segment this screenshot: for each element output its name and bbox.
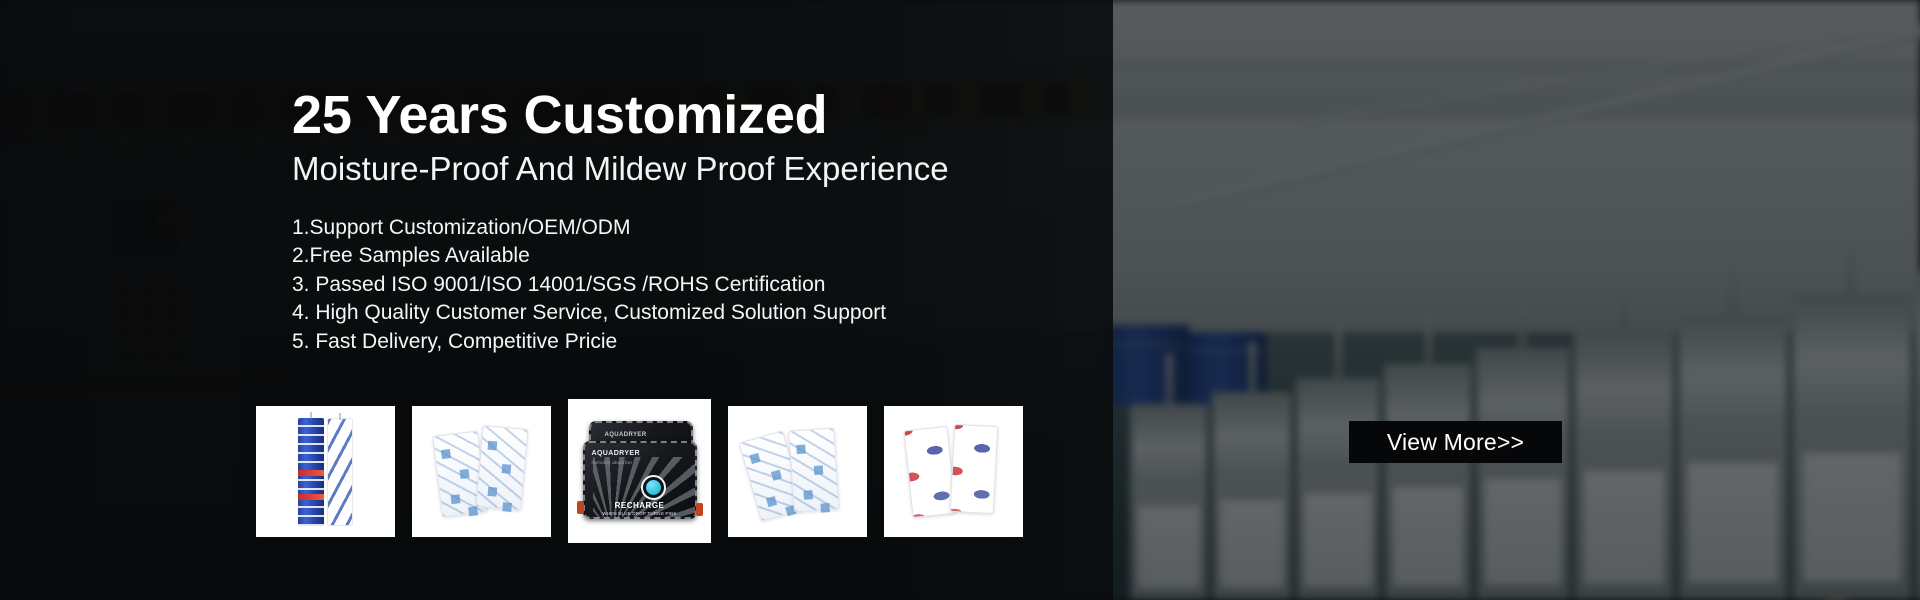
sachet-icon [903,426,956,518]
aquadryer-brand-label-back: AQUADRYER [605,432,647,438]
banner-subheadline: Moisture-Proof And Mildew Proof Experien… [292,150,1052,188]
feature-item: 3. Passed ISO 9001/ISO 14001/SGS /ROHS C… [292,271,1052,300]
feature-list: 1.Support Customization/OEM/ODM 2.Free S… [292,214,1052,357]
blue-tube-artwork [298,415,353,527]
view-more-button[interactable]: View More>> [1349,421,1562,463]
aquadryer-bag-front: AQUADRYER humidity absorber RECHARGE WHE… [583,441,697,519]
oval-logo-sachet-artwork [904,422,1004,520]
product-thumbnail-white-sachet-pair[interactable] [412,406,551,537]
blue-indicator-drop-icon [641,475,666,500]
product-thumbnail-oval-logo-sachet-pair[interactable] [884,406,1023,537]
feature-item: 2.Free Samples Available [292,242,1052,271]
feature-item: 4. High Quality Customer Service, Custom… [292,299,1052,328]
sachet-pair-artwork [429,425,535,517]
feature-item: 5. Fast Delivery, Competitive Pricie [292,328,1052,357]
aquadryer-artwork: AQUADRYER AQUADRYER humidity absorber RE… [579,417,701,525]
banner-headline: 25 Years Customized [292,86,1052,144]
banner-copy: 25 Years Customized Moisture-Proof And M… [292,86,1052,356]
recharge-label: RECHARGE [585,501,695,510]
recharge-sublabel: WHEN BLUE DROP TURNS PINK [585,511,695,516]
printed-strip-icon [327,418,353,526]
product-thumbnail-desiccant-sachet-pair[interactable] [728,406,867,537]
product-thumbnail-strip: AQUADRYER AQUADRYER humidity absorber RE… [256,399,1023,543]
desiccant-sachet-artwork [745,425,851,517]
sachet-icon [788,427,840,512]
aquadryer-brand-sublabel: humidity absorber [592,460,633,465]
blue-tube-icon [298,418,324,526]
feature-item: 1.Support Customization/OEM/ODM [292,214,1052,243]
product-thumbnail-aquadryer-black-bag[interactable]: AQUADRYER AQUADRYER humidity absorber RE… [568,399,711,543]
sachet-icon [475,425,528,511]
promo-banner: 25 Years Customized Moisture-Proof And M… [0,0,1920,600]
sachet-icon [949,424,998,514]
product-thumbnail-blue-tube-desiccant[interactable] [256,406,395,537]
aquadryer-brand-label: AQUADRYER [592,450,640,457]
